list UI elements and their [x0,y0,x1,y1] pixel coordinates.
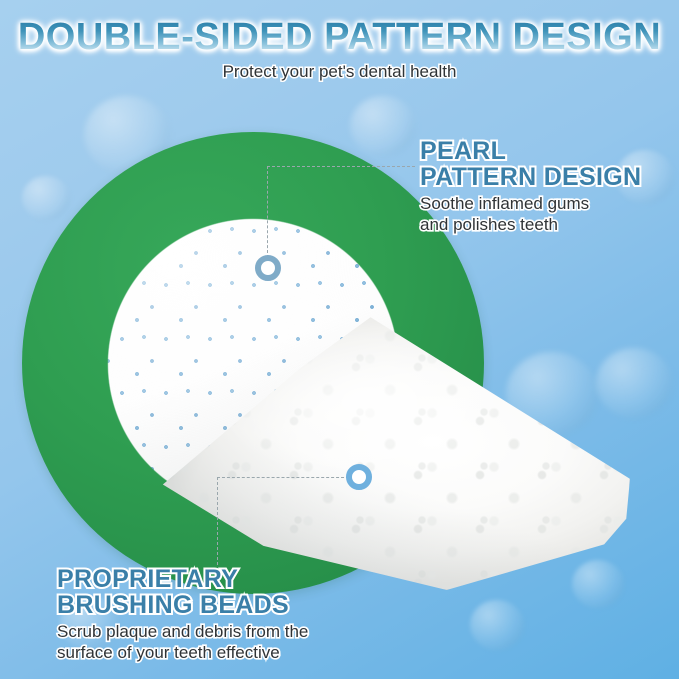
background-bubble [596,348,672,418]
page-title: DOUBLE-SIDED PATTERN DESIGN [0,18,679,56]
background-bubble [572,560,624,608]
background-bubble [470,600,524,650]
callout-beads-body-line1: Scrub plaque and debris from the [57,622,387,643]
callout-beads-title-line2: BRUSHING BEADS [57,592,387,618]
callout-pearl-body-line2: and polishes teeth [420,215,676,236]
callout-beads-title-line1: PROPRIETARY [57,566,387,592]
callout-beads-body-line2: surface of your teeth effective [57,643,387,664]
callout-pearl-title-line1: PEARL [420,138,676,164]
product-infographic: DOUBLE-SIDED PATTERN DESIGN Protect your… [0,0,679,679]
callout-proprietary-brushing-beads: PROPRIETARY BRUSHING BEADS Scrub plaque … [57,566,387,663]
callout-pearl-title-line2: PATTERN DESIGN [420,164,676,190]
page-subtitle: Protect your pet's dental health [0,62,679,82]
ring-marker-bottom[interactable] [346,464,372,490]
callout-pearl-body-line1: Soothe inflamed gums [420,194,676,215]
callout-pearl-pattern-design: PEARL PATTERN DESIGN Soothe inflamed gum… [420,138,676,235]
ring-marker-top[interactable] [255,255,281,281]
background-bubble [350,96,416,156]
